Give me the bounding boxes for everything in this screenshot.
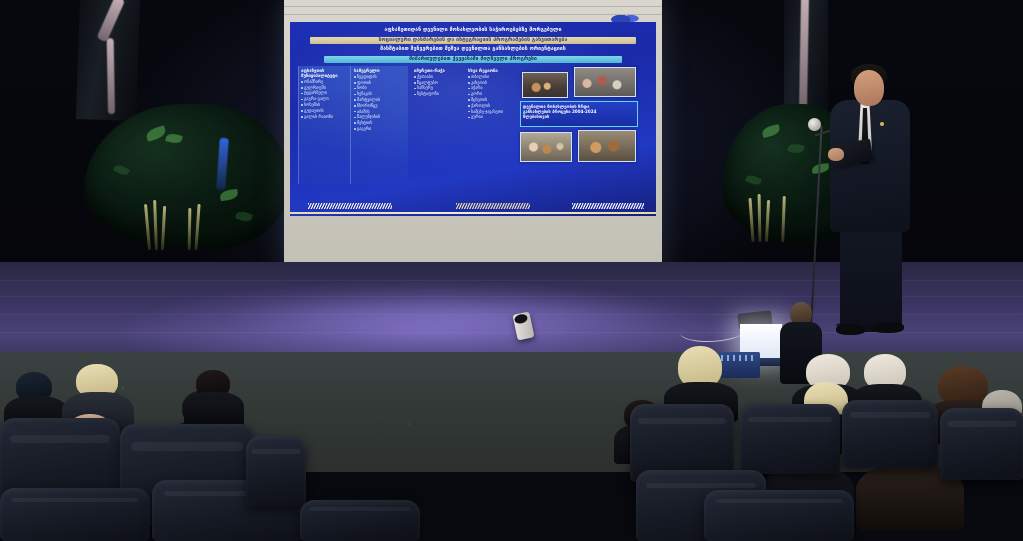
bullet-dot-icon [354,111,356,113]
bullet-dot-icon [301,81,303,83]
list-item-label: ზესტაფონი [417,92,439,97]
decorative-stripe-bar [572,203,644,209]
list-item: ოჩამჩირე [301,80,351,85]
bullet-dot-icon [301,110,303,112]
list-item-label: ცაგერი [357,127,371,132]
bullet-dot-icon [414,94,416,96]
photo-image [521,133,571,161]
slide-title-line-3: მასშტაბით შენვერებით მეშვა დევნილთა განს… [304,47,642,52]
tree-trunk-prop-right [784,0,828,114]
slide-column-other-regions: სხვა რეგიონი თბილისი კახეთის აჭარა გორი … [468,68,520,121]
bullet-dot-icon [301,87,303,89]
list-item-label: ზუგდიდის [357,75,377,80]
list-item-label: თბილისი [471,75,489,80]
list-item: ჩხოროწყუ [354,104,408,109]
list-item-label: გურია [471,115,483,120]
bullet-dot-icon [414,82,416,84]
presenter-legs [840,228,902,332]
bullet-dot-icon [301,93,303,95]
presenter-shoe [870,322,904,333]
audience-person [190,370,240,422]
column-heading: სხვა რეგიონი [468,68,520,73]
slide-callout-box: დევნილთა მოსახლეობის ზრდა განსახლების პრ… [520,101,638,127]
slide-content-area: აფხაზეთის მუნიციპალიტეტი ოჩამჩირე გულრიფ… [298,66,648,188]
bullet-dot-icon [468,88,470,90]
list-item-label: გუდაუთის [304,109,324,114]
bullet-dot-icon [354,82,356,84]
person-shoulders [184,392,244,428]
bullet-dot-icon [468,111,470,113]
bullet-dot-icon [414,88,416,90]
presentation-slide: აფხაზეთიდან დევნილი მოსახლეობის საჭიროებ… [290,22,656,216]
cloth-fold [284,6,662,7]
slide-column-abkhazia: აფხაზეთის მუნიციპალიტეტი ოჩამჩირე გულრიფ… [301,68,351,120]
presenter-shoe [836,324,866,335]
photo-image [575,68,635,96]
bullet-dot-icon [354,94,356,96]
theatre-seat[interactable] [0,488,150,541]
bullet-dot-icon [354,99,356,101]
bullet-dot-icon [354,88,356,90]
foliage-bush-left [84,104,290,250]
bullet-dot-icon [354,128,356,130]
decorative-stripe-bar [456,203,530,209]
list-item: ზუგდიდის [354,75,408,80]
column-heading: იმერეთი-რაჭა [414,68,464,73]
list-item: გალის რაიონი [301,115,351,120]
trunk-highlight [107,38,115,114]
stage-light-pool [120,282,780,352]
slide-photo-conference-hall [522,72,568,98]
list-item-label: ქუთაისი [417,75,433,80]
theatre-seat[interactable] [940,408,1023,480]
bullet-dot-icon [414,76,416,78]
theatre-seat[interactable] [300,500,420,541]
lapel-pin-icon [880,122,884,126]
projection-screen: აფხაზეთიდან დევნილი მოსახლეობის საჭიროებ… [284,0,662,272]
slide-title-line-2: სოციალური დახმარების და ინტეგრაციის პროგ… [310,37,636,44]
bullet-dot-icon [301,104,303,106]
slide-title-line-1: აფხაზეთიდან დევნილი მოსახლეობის საჭიროებ… [304,28,642,33]
slide-column-imereti-racha: იმერეთი-რაჭა ქუთაისი წყალტუბო საჩხერე ზე… [414,68,464,98]
bullet-dot-icon [468,94,470,96]
bullet-dot-icon [354,76,356,78]
bullet-dot-icon [301,99,303,101]
bullet-dot-icon [354,117,356,119]
bullet-dot-icon [468,105,470,107]
slide-photo-crowd-gathering [574,67,636,97]
microphone-icon [808,118,821,131]
theatre-seat[interactable] [740,404,840,474]
slide-photo-meeting-table [520,132,572,162]
slide-column-samegrelo: სამეგრელო ზუგდიდის ფოთის ხობი სენაკის მა… [354,68,408,133]
decorative-stripe-bar [308,203,392,209]
list-item: ცაგერი [354,127,408,132]
theatre-seat[interactable] [704,490,854,541]
slide-photo-field-visit [578,130,636,162]
list-item: გუდაუთის [301,109,351,114]
theatre-seat[interactable] [246,436,306,506]
list-item: ზესტაფონი [414,92,464,97]
list-item-label: გალის რაიონი [304,115,333,120]
theatre-seat[interactable] [842,400,938,468]
presenter-at-microphone [824,56,932,346]
av-cable [680,320,746,342]
audience-person [672,346,730,412]
list-item-label: ჩხოროწყუ [357,104,377,109]
photo-image [523,73,567,97]
callout-line-3: წლებისთვის [523,114,635,119]
presenter-head [854,70,884,106]
slide-footer-line [290,212,656,214]
column-heading: აფხაზეთის მუნიციპალიტეტი [301,68,351,78]
list-item: ქუთაისი [414,75,464,80]
slide-title-line-4: მიმართულებით ქვეყანაში მიღწეული პროგრესი [324,56,622,63]
list-item-label: ქართლის [471,104,490,109]
tree-trunk-prop-left [76,0,140,121]
bullet-dot-icon [468,117,470,119]
list-item: ქართლის [468,104,520,109]
presenter-hand [828,148,844,161]
bullet-dot-icon [354,122,356,124]
bullet-dot-icon [468,99,470,101]
photo-image [579,131,635,161]
list-item: გურია [468,115,520,120]
list-item: თბილისი [468,75,520,80]
bullet-dot-icon [354,105,356,107]
column-heading: სამეგრელო [354,68,408,73]
bullet-dot-icon [468,82,470,84]
bullet-dot-icon [301,116,303,118]
list-item-label: ოჩამჩირე [304,80,323,85]
bullet-dot-icon [468,76,470,78]
auditorium-presentation-photo: აფხაზეთიდან დევნილი მოსახლეობის საჭიროებ… [0,0,1023,541]
